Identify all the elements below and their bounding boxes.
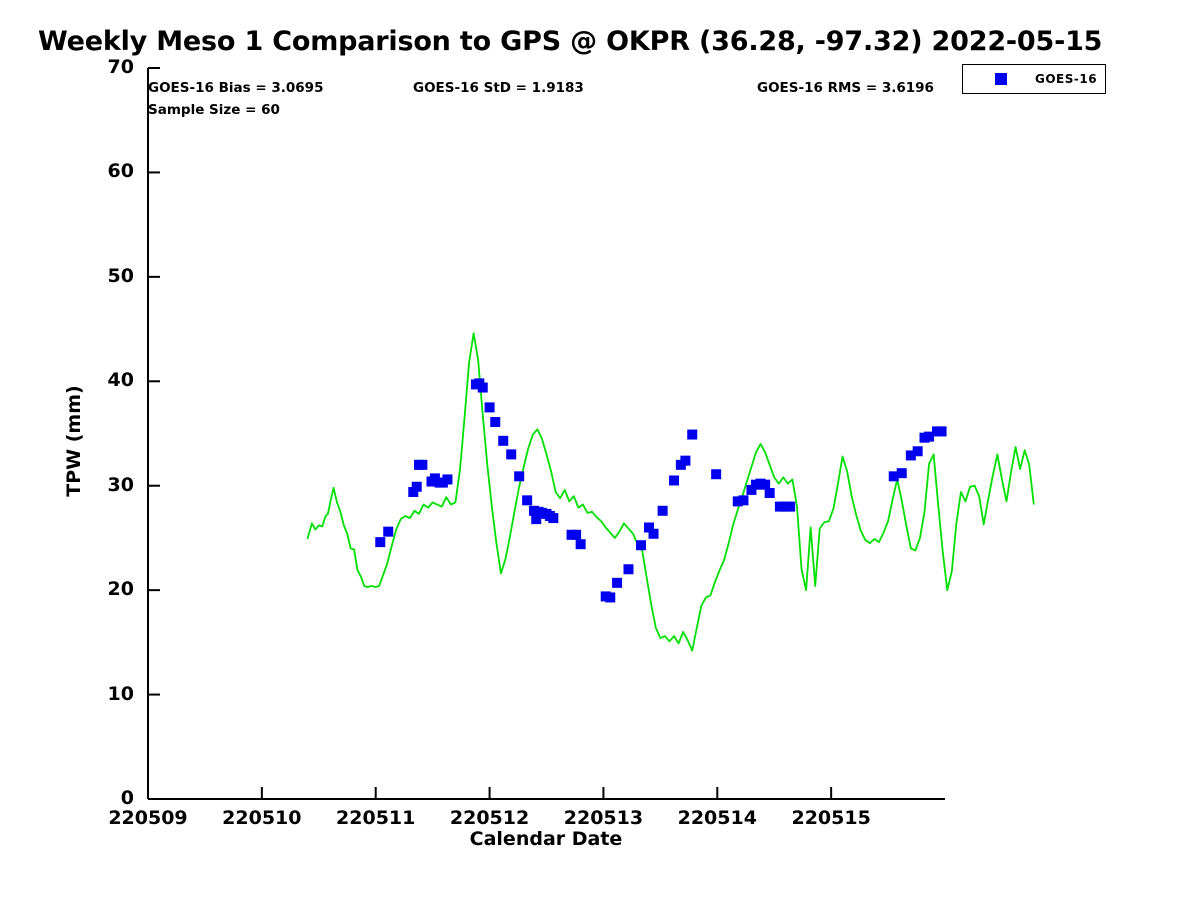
chart-legend: GOES-16 (962, 64, 1106, 94)
goes16-data-marker (669, 475, 679, 485)
goes16-data-marker (531, 514, 541, 524)
axis-ticks (148, 68, 831, 799)
y-tick-label: 0 (82, 787, 134, 809)
goes16-data-marker (680, 456, 690, 466)
plot-area (0, 0, 1200, 900)
goes16-data-marker (498, 436, 508, 446)
goes16-data-marker (623, 564, 633, 574)
goes16-data-marker (412, 482, 422, 492)
y-tick-label: 60 (82, 160, 134, 182)
goes16-data-marker (375, 537, 385, 547)
x-tick-label: 220510 (202, 807, 322, 829)
x-tick-label: 220514 (657, 807, 777, 829)
goes16-data-marker (658, 506, 668, 516)
goes16-data-marker (738, 495, 748, 505)
goes16-data-marker (548, 513, 558, 523)
y-tick-label: 50 (82, 265, 134, 287)
y-tick-label: 20 (82, 578, 134, 600)
goes16-data-marker (571, 530, 581, 540)
data-series (307, 333, 1033, 650)
goes16-data-marker (478, 383, 488, 393)
x-tick-label: 220515 (771, 807, 891, 829)
legend-marker-goes16-icon (995, 73, 1007, 85)
goes16-data-marker (522, 495, 532, 505)
goes16-data-marker (687, 430, 697, 440)
goes16-data-marker (506, 449, 516, 459)
x-tick-label: 220509 (88, 807, 208, 829)
goes16-data-marker (417, 460, 427, 470)
goes16-data-marker (765, 488, 775, 498)
goes16-data-marker (490, 417, 500, 427)
goes16-data-marker (785, 502, 795, 512)
legend-label-goes16: GOES-16 (1035, 72, 1097, 86)
goes16-data-marker (383, 527, 393, 537)
goes16-data-marker (605, 592, 615, 602)
goes16-data-marker (576, 539, 586, 549)
y-tick-label: 30 (82, 474, 134, 496)
y-tick-label: 70 (82, 56, 134, 78)
chart-figure: Weekly Meso 1 Comparison to GPS @ OKPR (… (0, 0, 1200, 900)
goes16-data-marker (514, 471, 524, 481)
x-tick-label: 220511 (316, 807, 436, 829)
axes (148, 68, 945, 799)
x-tick-label: 220512 (430, 807, 550, 829)
goes16-data-marker (636, 540, 646, 550)
y-tick-label: 40 (82, 369, 134, 391)
goes16-data-marker (649, 529, 659, 539)
x-tick-label: 220513 (543, 807, 663, 829)
goes16-data-marker (913, 446, 923, 456)
goes16-data-marker (442, 474, 452, 484)
goes16-data-marker (897, 468, 907, 478)
goes16-data-marker (485, 402, 495, 412)
goes16-data-marker (612, 578, 622, 588)
y-tick-label: 10 (82, 683, 134, 705)
goes16-data-marker (937, 426, 947, 436)
goes16-data-marker (711, 469, 721, 479)
